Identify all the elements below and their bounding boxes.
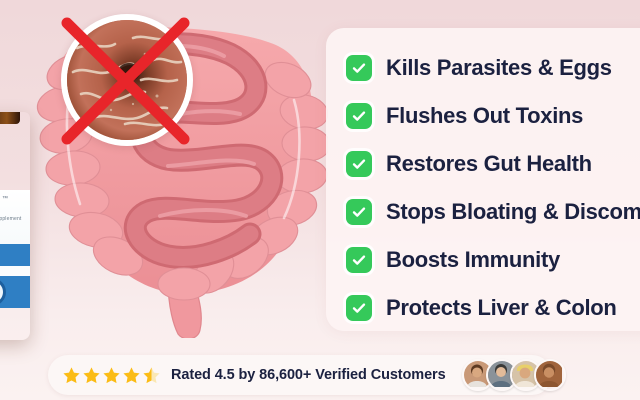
green-check-icon [346,103,372,129]
benefit-label: Protects Liver & Colon [386,295,617,321]
benefits-card: Kills Parasites & Eggs Flushes Out Toxin… [326,28,640,331]
bottle-label: n ™ Dietary Supplement SE [0,190,30,308]
green-check-icon [346,55,372,81]
benefit-label: Flushes Out Toxins [386,103,583,129]
benefit-row: Protects Liver & Colon [326,284,640,332]
star-icon [122,366,141,385]
benefit-label: Stops Bloating & Discomfort [386,199,640,225]
bottle-subtitle: Dietary Supplement [0,216,22,222]
star-icon [102,366,121,385]
green-check-icon [346,295,372,321]
benefit-row: Flushes Out Toxins [326,92,640,140]
customer-avatars [462,359,566,391]
benefit-label: Kills Parasites & Eggs [386,55,612,81]
advertisement-banner: n ™ Dietary Supplement SE [0,0,640,400]
benefit-row: Boosts Immunity [326,236,640,284]
benefit-row: Restores Gut Health [326,140,640,188]
green-check-icon [346,199,372,225]
star-icon [62,366,81,385]
parasite-photo [67,20,187,140]
bottle-label-band-top [0,244,30,266]
benefit-row: Stops Bloating & Discomfort [326,188,640,236]
rating-text: Rated 4.5 by 86,600+ Verified Customers [171,367,446,383]
star-icon [82,366,101,385]
benefit-label: Boosts Immunity [386,247,560,273]
bottle-neck [0,112,20,124]
bottle-tm-mark: ™ [2,196,8,202]
product-bottle: n ™ Dietary Supplement SE [0,112,30,340]
customer-avatar-4 [534,359,566,391]
star-half-icon [142,366,161,385]
benefit-row: Kills Parasites & Eggs [326,44,640,92]
parasite-photo-inset [61,14,193,146]
star-rating [62,366,161,385]
rating-badge: Rated 4.5 by 86,600+ Verified Customers [48,355,552,395]
benefit-label: Restores Gut Health [386,151,592,177]
green-check-icon [346,247,372,273]
green-check-icon [346,151,372,177]
